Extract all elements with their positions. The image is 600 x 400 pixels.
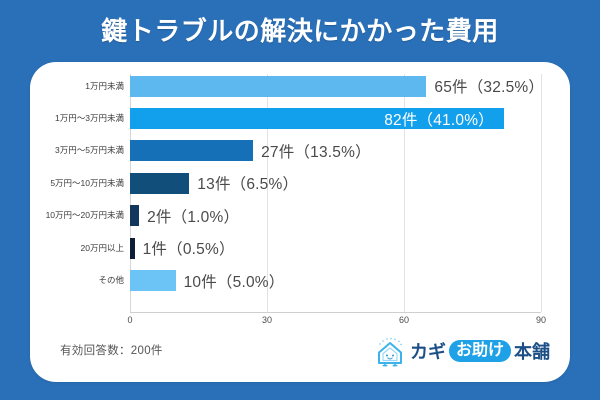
x-axis-line <box>130 312 541 313</box>
bar-segment[interactable]: 82件（41.0%） <box>130 108 504 129</box>
category-label: 5万円〜10万円未満 <box>30 178 124 189</box>
x-tick-label: 60 <box>399 315 409 325</box>
category-label: 10万円〜20万円未満 <box>30 210 124 221</box>
bar-value-label: 27件（13.5%） <box>261 140 371 162</box>
bar-group: 82件（41.0%） <box>130 102 504 134</box>
bar-row: 20万円以上 1件（0.5%） <box>30 232 570 264</box>
bar-value-label: 13件（6.5%） <box>197 172 298 194</box>
category-label: 20万円以上 <box>30 243 124 254</box>
logo-otasuke-pill: お助け <box>449 340 511 362</box>
category-label: その他 <box>30 275 124 286</box>
x-axis: 0 30 60 90 <box>30 312 570 334</box>
bar-group: 1件（0.5%） <box>130 232 235 264</box>
sample-size-note: 有効回答数：200件 <box>60 342 163 358</box>
bar-row: その他 10件（5.0%） <box>30 264 570 296</box>
bar-row: 1万円未満 65件（32.5%） <box>30 70 570 102</box>
bar-row: 1万円〜3万円未満 82件（41.0%） <box>30 102 570 134</box>
bar-group: 13件（6.5%） <box>130 167 298 199</box>
bar-value-label: 10件（5.0%） <box>184 270 285 292</box>
bar-segment[interactable] <box>130 205 139 226</box>
bar-group: 27件（13.5%） <box>130 135 371 167</box>
x-tick-label: 30 <box>262 315 272 325</box>
logo-kagi: カギ <box>410 338 446 364</box>
brand-logo[interactable]: カギ お助け 本舗 <box>373 334 550 368</box>
x-tick-label: 0 <box>127 315 132 325</box>
x-tick-label: 90 <box>536 315 546 325</box>
house-mascot-icon <box>373 334 407 368</box>
bar-segment[interactable] <box>130 76 426 97</box>
bar-group: 10件（5.0%） <box>130 264 284 296</box>
chart-rows: 1万円未満 65件（32.5%） 1万円〜3万円未満 82件（41.0%） <box>30 70 570 297</box>
bar-value-label: 82件（41.0%） <box>384 108 494 130</box>
bar-row: 3万円〜5万円未満 27件（13.5%） <box>30 135 570 167</box>
bar-group: 2件（1.0%） <box>130 200 239 232</box>
bar-row: 5万円〜10万円未満 13件（6.5%） <box>30 167 570 199</box>
category-label: 1万円〜3万円未満 <box>30 113 124 124</box>
bar-segment[interactable] <box>130 173 189 194</box>
bar-group: 65件（32.5%） <box>130 70 544 102</box>
bar-value-label: 1件（0.5%） <box>143 237 235 259</box>
bar-segment[interactable] <box>130 270 176 291</box>
bar-segment[interactable] <box>130 140 253 161</box>
brand-logo-text: カギ お助け 本舗 <box>410 338 550 364</box>
category-label: 3万円〜5万円未満 <box>30 145 124 156</box>
bar-value-label: 65件（32.5%） <box>434 75 544 97</box>
bar-value-label: 2件（1.0%） <box>147 205 239 227</box>
page-title: 鍵トラブルの解決にかかった費用 <box>0 14 600 48</box>
logo-honpo: 本舗 <box>514 338 550 364</box>
page-title-text: 鍵トラブルの解決にかかった費用 <box>101 14 499 48</box>
chart-card: 1万円未満 65件（32.5%） 1万円〜3万円未満 82件（41.0%） <box>30 62 570 382</box>
bar-row: 10万円〜20万円未満 2件（1.0%） <box>30 200 570 232</box>
category-label: 1万円未満 <box>30 81 124 92</box>
bar-chart: 1万円未満 65件（32.5%） 1万円〜3万円未満 82件（41.0%） <box>30 70 570 328</box>
bar-segment[interactable] <box>130 238 135 259</box>
screenshot-root: 鍵トラブルの解決にかかった費用 1万円未満 65件（32.5%） <box>0 0 600 400</box>
